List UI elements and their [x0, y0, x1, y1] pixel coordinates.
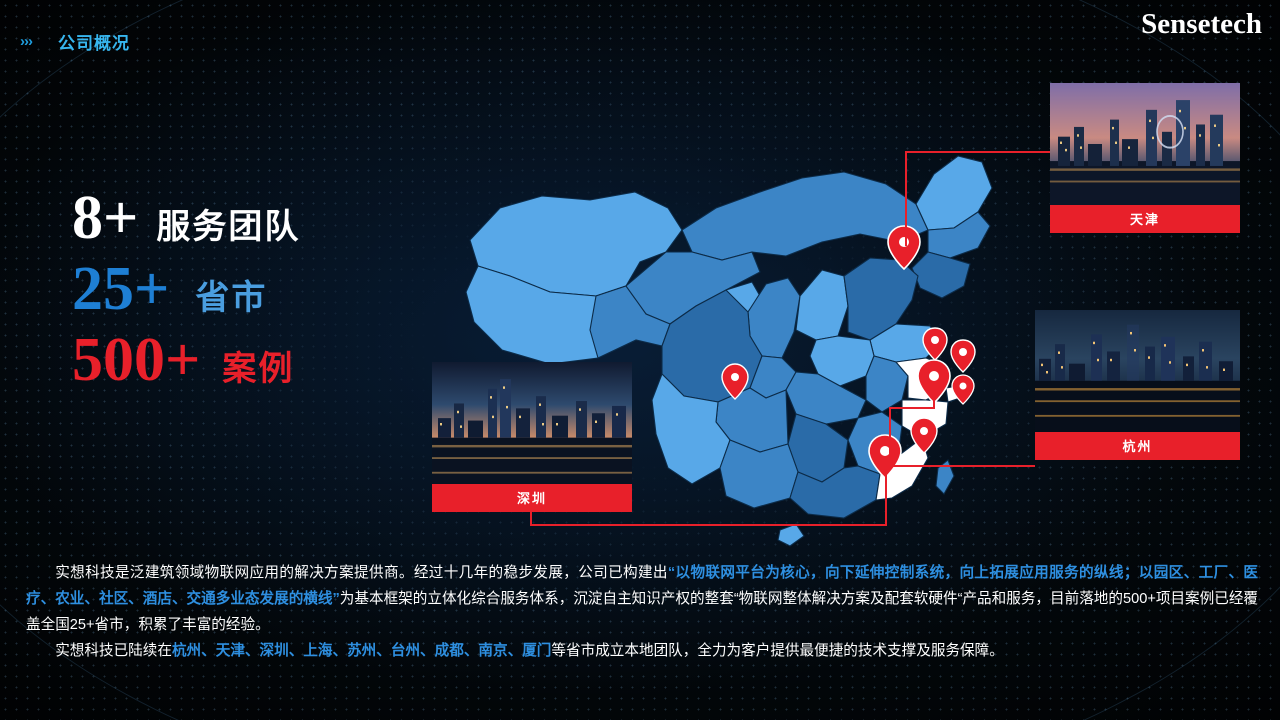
stat-number: 25+	[72, 257, 169, 322]
province-taiwan	[936, 460, 954, 494]
stat-number: 500+	[72, 328, 200, 393]
hangzhou-skyline-photo	[1035, 310, 1240, 432]
page-title: 公司概况	[58, 29, 130, 54]
stat-label: 省市	[195, 270, 267, 319]
photo-caption: 杭州	[1035, 432, 1240, 460]
photo-card-shenzhen[interactable]: 深圳	[432, 362, 632, 484]
page-header: ››› 公司概况 Sensetech	[0, 0, 1280, 66]
stat-label: 案例	[222, 341, 294, 390]
body-text-block: 实想科技是泛建筑领域物联网应用的解决方案提供商。经过十几年的稳步发展，公司已构建…	[26, 560, 1258, 664]
stat-item-cases: 500+ 案例	[72, 328, 300, 393]
province-hainan	[778, 524, 804, 546]
province-shanxi	[796, 270, 848, 340]
tianjin-skyline-photo	[1050, 83, 1240, 205]
photo-caption: 深圳	[432, 484, 632, 512]
photo-card-hangzhou[interactable]: 杭州	[1035, 310, 1240, 432]
photo-caption: 天津	[1050, 205, 1240, 233]
stats-block: 8+ 服务团队 25+ 省市 500+ 案例	[72, 186, 300, 399]
para2-cities: 杭州、天津、深圳、上海、苏州、台州、成都、南京、厦门	[172, 643, 551, 659]
para2-part-c: 等省市成立本地团队，全力为客户提供最便捷的技术支撑及服务保障。	[551, 643, 1003, 659]
brand-logo: Sensetech	[1141, 8, 1262, 41]
map-pin-nanjing[interactable]	[951, 340, 975, 372]
province-liaoning	[912, 252, 970, 298]
chevron-right-icon: ›››	[20, 33, 32, 50]
para1-part-a: 实想科技是泛建筑领域物联网应用的解决方案提供商。经过十几年的稳步发展，公司已构建…	[55, 565, 668, 581]
para2-part-a: 实想科技已陆续在	[55, 643, 172, 659]
shenzhen-skyline-photo	[432, 362, 632, 484]
photo-card-tianjin[interactable]: 天津	[1050, 83, 1240, 205]
stat-label: 服务团队	[156, 199, 300, 248]
province-guangdong	[790, 466, 880, 518]
paragraph-1: 实想科技是泛建筑领域物联网应用的解决方案提供商。经过十几年的稳步发展，公司已构建…	[26, 560, 1258, 638]
stat-item-provinces: 25+ 省市	[72, 257, 300, 322]
stat-item-teams: 8+ 服务团队	[72, 186, 300, 251]
stat-number: 8+	[72, 186, 138, 251]
paragraph-2: 实想科技已陆续在杭州、天津、深圳、上海、苏州、台州、成都、南京、厦门等省市成立本…	[26, 638, 1258, 664]
